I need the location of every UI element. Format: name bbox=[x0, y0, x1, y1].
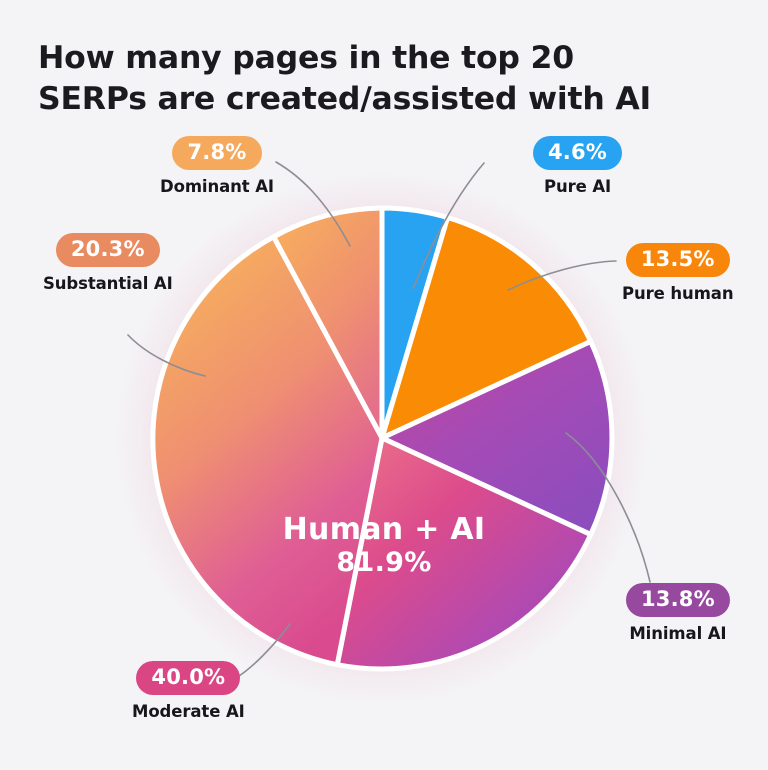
caption-pure-human: Pure human bbox=[622, 284, 733, 303]
callout-substantial-ai[interactable]: 20.3% Substantial AI bbox=[43, 233, 173, 293]
callout-minimal-ai[interactable]: 13.8% Minimal AI bbox=[626, 583, 730, 643]
pie-chart bbox=[0, 0, 768, 770]
badge-minimal-ai: 13.8% bbox=[626, 583, 730, 617]
callout-pure-ai[interactable]: 4.6% Pure AI bbox=[533, 136, 622, 196]
callout-moderate-ai[interactable]: 40.0% Moderate AI bbox=[132, 661, 245, 721]
badge-pure-human: 13.5% bbox=[626, 243, 730, 277]
caption-moderate-ai: Moderate AI bbox=[132, 702, 245, 721]
callout-dominant-ai[interactable]: 7.8% Dominant AI bbox=[160, 136, 274, 196]
pie-slices bbox=[153, 208, 612, 669]
badge-pure-ai: 4.6% bbox=[533, 136, 622, 170]
chart-canvas: How many pages in the top 20 SERPs are c… bbox=[0, 0, 768, 770]
badge-moderate-ai: 40.0% bbox=[136, 661, 240, 695]
badge-dominant-ai: 7.8% bbox=[172, 136, 261, 170]
caption-pure-ai: Pure AI bbox=[544, 177, 611, 196]
caption-substantial-ai: Substantial AI bbox=[43, 274, 173, 293]
badge-substantial-ai: 20.3% bbox=[56, 233, 160, 267]
caption-dominant-ai: Dominant AI bbox=[160, 177, 274, 196]
callout-pure-human[interactable]: 13.5% Pure human bbox=[622, 243, 733, 303]
caption-minimal-ai: Minimal AI bbox=[629, 624, 726, 643]
